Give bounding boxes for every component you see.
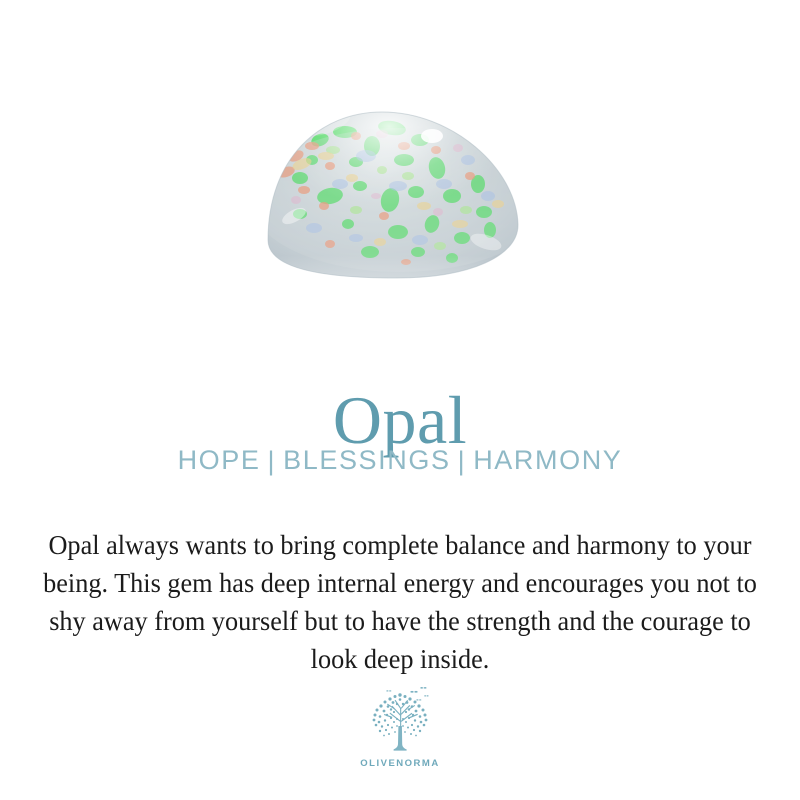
keyword-blessings: BLESSINGS xyxy=(283,445,450,475)
opal-cabochon-icon xyxy=(0,0,800,300)
keyword-separator: | xyxy=(458,445,467,477)
keyword-separator: | xyxy=(267,445,276,477)
keyword-harmony: HARMONY xyxy=(473,445,622,475)
gemstone-info-card: Opal HOPE|BLESSINGS|HARMONY Opal always … xyxy=(0,0,800,800)
keyword-hope: HOPE xyxy=(178,445,261,475)
tree-icon xyxy=(360,682,440,756)
description-text: Opal always wants to bring complete bala… xyxy=(39,526,761,678)
gemstone-image xyxy=(0,0,800,300)
brand-wordmark: OLIVENORMA xyxy=(360,758,439,769)
keyword-list: HOPE|BLESSINGS|HARMONY xyxy=(0,444,800,476)
brand-logo: OLIVENORMA xyxy=(0,682,800,769)
